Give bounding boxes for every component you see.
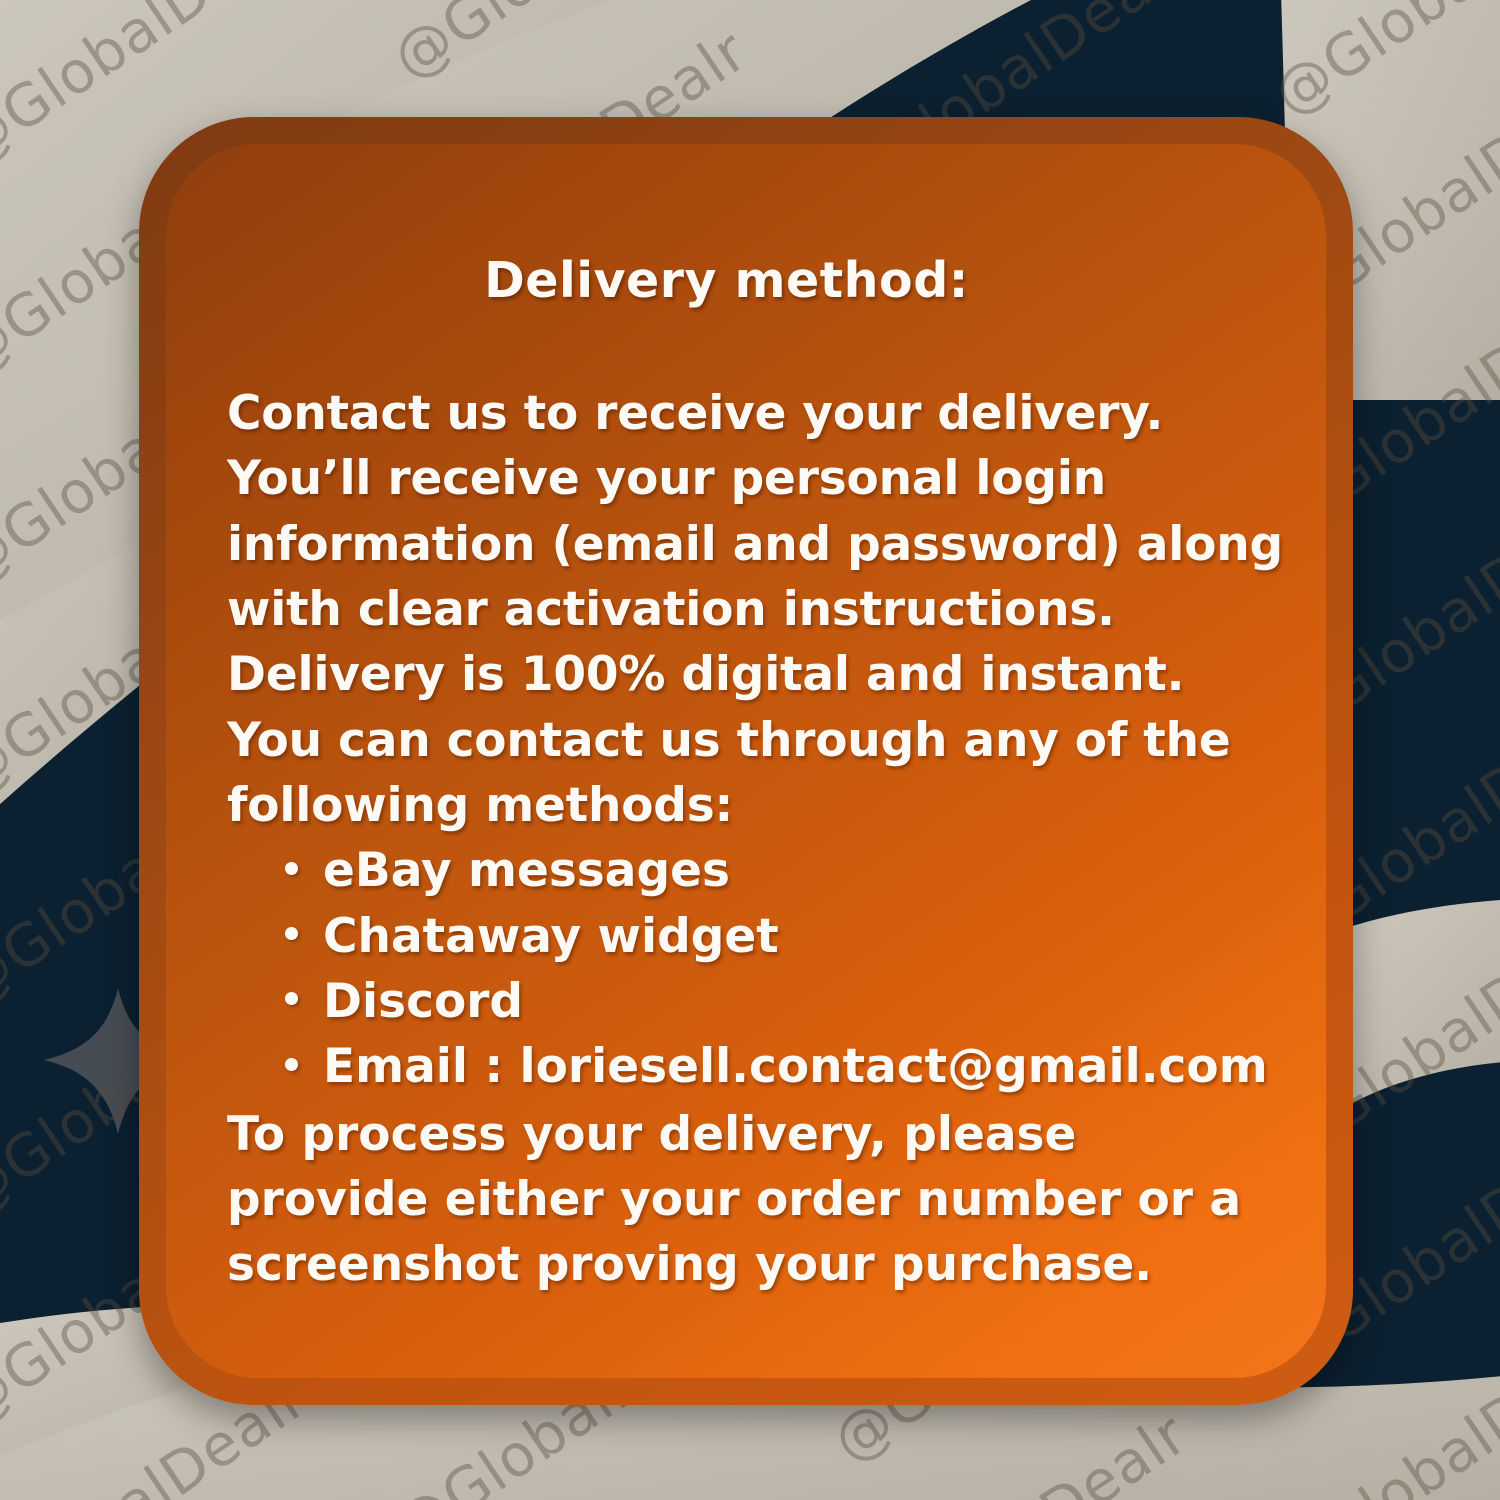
list-item-label: Chataway widget [323, 909, 779, 964]
info-card: Delivery method: Contact us to receive y… [139, 117, 1353, 1405]
list-item-label: Email : loriesell.contact@gmail.com [323, 1039, 1268, 1094]
body-text: Contact us to receive your delivery. You… [227, 381, 1286, 838]
info-card-content: Delivery method: Contact us to receive y… [227, 144, 1286, 1378]
list-item: Chataway widget [285, 904, 1286, 969]
contact-methods-list: eBay messages Chataway widget Discord Em… [227, 838, 1286, 1099]
page-title: Delivery method: [227, 144, 1286, 309]
paragraph-contact-methods: You can contact us through any of the fo… [227, 708, 1286, 839]
bullet-icon [285, 1058, 298, 1071]
list-item: eBay messages [285, 838, 1286, 903]
paragraph-closing: To process your delivery, please provide… [227, 1102, 1286, 1298]
list-item-label: eBay messages [323, 843, 730, 898]
paragraph-digital: Delivery is 100% digital and instant. [227, 642, 1286, 707]
bullet-icon [285, 862, 298, 875]
list-item-label: Discord [323, 974, 523, 1029]
list-item: Email : loriesell.contact@gmail.com [285, 1034, 1286, 1099]
bullet-icon [285, 927, 298, 940]
paragraph-intro: Contact us to receive your delivery. You… [227, 381, 1286, 642]
info-card-surface: Delivery method: Contact us to receive y… [166, 144, 1326, 1378]
bullet-icon [285, 992, 298, 1005]
list-item: Discord [285, 969, 1286, 1034]
promo-graphic: @GlobalDealr@GlobalDealr@GlobalDealr@Glo… [0, 0, 1500, 1500]
